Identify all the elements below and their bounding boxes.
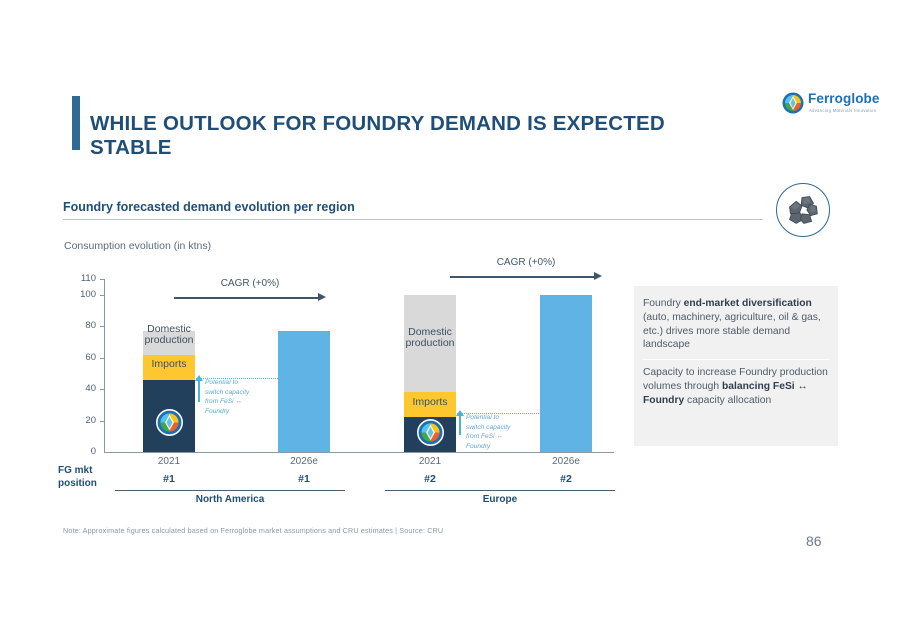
imports-text: Imports (412, 396, 447, 408)
fg-position-na-2021: #1 (143, 473, 195, 485)
foundry-demand-chart: 110 100 80 60 40 20 0 CAGR (+0%) (64, 270, 624, 460)
annotation-line-3: from FeSi ↔ (205, 398, 242, 405)
annotation-line-1: Potential to (466, 414, 499, 421)
panel-divider (643, 359, 829, 360)
y-tick-mark (100, 295, 104, 296)
ferroglobe-logo: Ferroglobe Advancing Materials Innovatio… (782, 90, 880, 120)
insights-panel: Foundry end-market diversification (auto… (634, 286, 838, 446)
y-tick-110: 110 (70, 274, 96, 284)
section-divider (63, 219, 763, 220)
group-label-europe: Europe (385, 494, 615, 505)
cagr-arrow-line (450, 276, 596, 278)
y-tick-0: 0 (70, 447, 96, 457)
cagr-arrow-head (594, 272, 602, 280)
chart-subtitle: Consumption evolution (in ktns) (64, 240, 211, 252)
y-tick-mark (100, 279, 104, 280)
section-heading: Foundry forecasted demand evolution per … (63, 200, 355, 214)
footnote: Note: Approximate figures calculated bas… (63, 526, 443, 535)
page-title: WHILE OUTLOOK FOR FOUNDRY DEMAND IS EXPE… (90, 112, 730, 160)
y-tick-mark (100, 326, 104, 327)
group-label-north-america: North America (115, 494, 345, 505)
domestic-production-text: Domestic production (405, 326, 454, 349)
potential-switch-text-eu: Potential to switch capacity from FeSi ↔… (466, 413, 532, 451)
title-accent-bar (72, 96, 80, 150)
y-tick-80: 80 (70, 321, 96, 331)
annotation-line-2: switch capacity (205, 389, 249, 396)
page-number: 86 (806, 533, 822, 549)
fg-mkt-position-label: FG mkt position (58, 465, 118, 490)
fg-position-eu-2026e: #2 (540, 473, 592, 485)
label-domestic-production-eu: Domestic production (384, 327, 476, 350)
insight-2-text-2: capacity allocation (684, 395, 771, 406)
rocks-circle-icon (776, 183, 830, 237)
fg-mkt-line1: FG mkt (58, 465, 92, 476)
bar-north-america-2021[interactable] (143, 331, 195, 452)
potential-switch-arrow-na (198, 380, 200, 402)
x-axis (104, 452, 614, 453)
ferroglobe-globe-icon (417, 419, 444, 446)
potential-switch-arrow-eu (459, 415, 461, 435)
logo-tagline: Advancing Materials Innovation (809, 108, 876, 113)
annotation-line-1: Potential to (205, 379, 238, 386)
insight-1-text-1: Foundry (643, 298, 684, 309)
potential-switch-arrow-head-na (195, 375, 203, 381)
label-imports-eu: Imports (404, 397, 456, 408)
cagr-label: CAGR (+0%) (450, 257, 602, 268)
logo-wordmark: Ferroglobe (808, 91, 880, 106)
ferroglobe-globe-icon (782, 92, 804, 114)
y-axis (104, 279, 105, 452)
cagr-arrow-head (318, 293, 326, 301)
cagr-arrow-line (174, 297, 320, 299)
label-imports-na: Imports (143, 359, 195, 370)
label-domestic-production-na: Domestic production (123, 324, 215, 347)
fg-position-eu-2021: #2 (404, 473, 456, 485)
x-label-na-2021: 2021 (143, 456, 195, 467)
insight-1-bold: end-market diversification (684, 298, 812, 309)
imports-text: Imports (151, 358, 186, 370)
insight-block-diversification: Foundry end-market diversification (auto… (643, 297, 831, 352)
fg-mkt-line2: position (58, 478, 97, 489)
y-tick-mark (100, 389, 104, 390)
domestic-production-text: Domestic production (144, 323, 193, 346)
cagr-label: CAGR (+0%) (174, 278, 326, 289)
x-label-na-2026e: 2026e (278, 456, 330, 467)
annotation-line-3: from FeSi ↔ (466, 433, 503, 440)
x-label-eu-2026e: 2026e (540, 456, 592, 467)
insight-1-text-2: (auto, machinery, agriculture, oil & gas… (643, 312, 821, 351)
y-tick-20: 20 (70, 416, 96, 426)
y-tick-mark (100, 358, 104, 359)
y-tick-60: 60 (70, 353, 96, 363)
ferroglobe-globe-icon (156, 409, 183, 436)
x-label-eu-2021: 2021 (404, 456, 456, 467)
group-rule-europe (385, 490, 615, 491)
y-tick-40: 40 (70, 384, 96, 394)
fg-position-na-2026e: #1 (278, 473, 330, 485)
potential-switch-arrow-head-eu (456, 410, 464, 416)
bar-europe-2021[interactable] (404, 295, 456, 452)
y-tick-mark (100, 421, 104, 422)
annotation-line-4: Foundry (205, 408, 229, 415)
potential-switch-text-na: Potential to switch capacity from FeSi ↔… (205, 378, 271, 416)
bar-north-america-2026e[interactable] (278, 331, 330, 452)
y-tick-100: 100 (70, 290, 96, 300)
annotation-line-4: Foundry (466, 443, 490, 450)
bar-europe-2026e[interactable] (540, 295, 592, 452)
annotation-line-2: switch capacity (466, 424, 510, 431)
insight-block-capacity: Capacity to increase Foundry production … (643, 366, 831, 407)
group-rule-north-america (115, 490, 345, 491)
slide-canvas: WHILE OUTLOOK FOR FOUNDRY DEMAND IS EXPE… (0, 0, 898, 635)
